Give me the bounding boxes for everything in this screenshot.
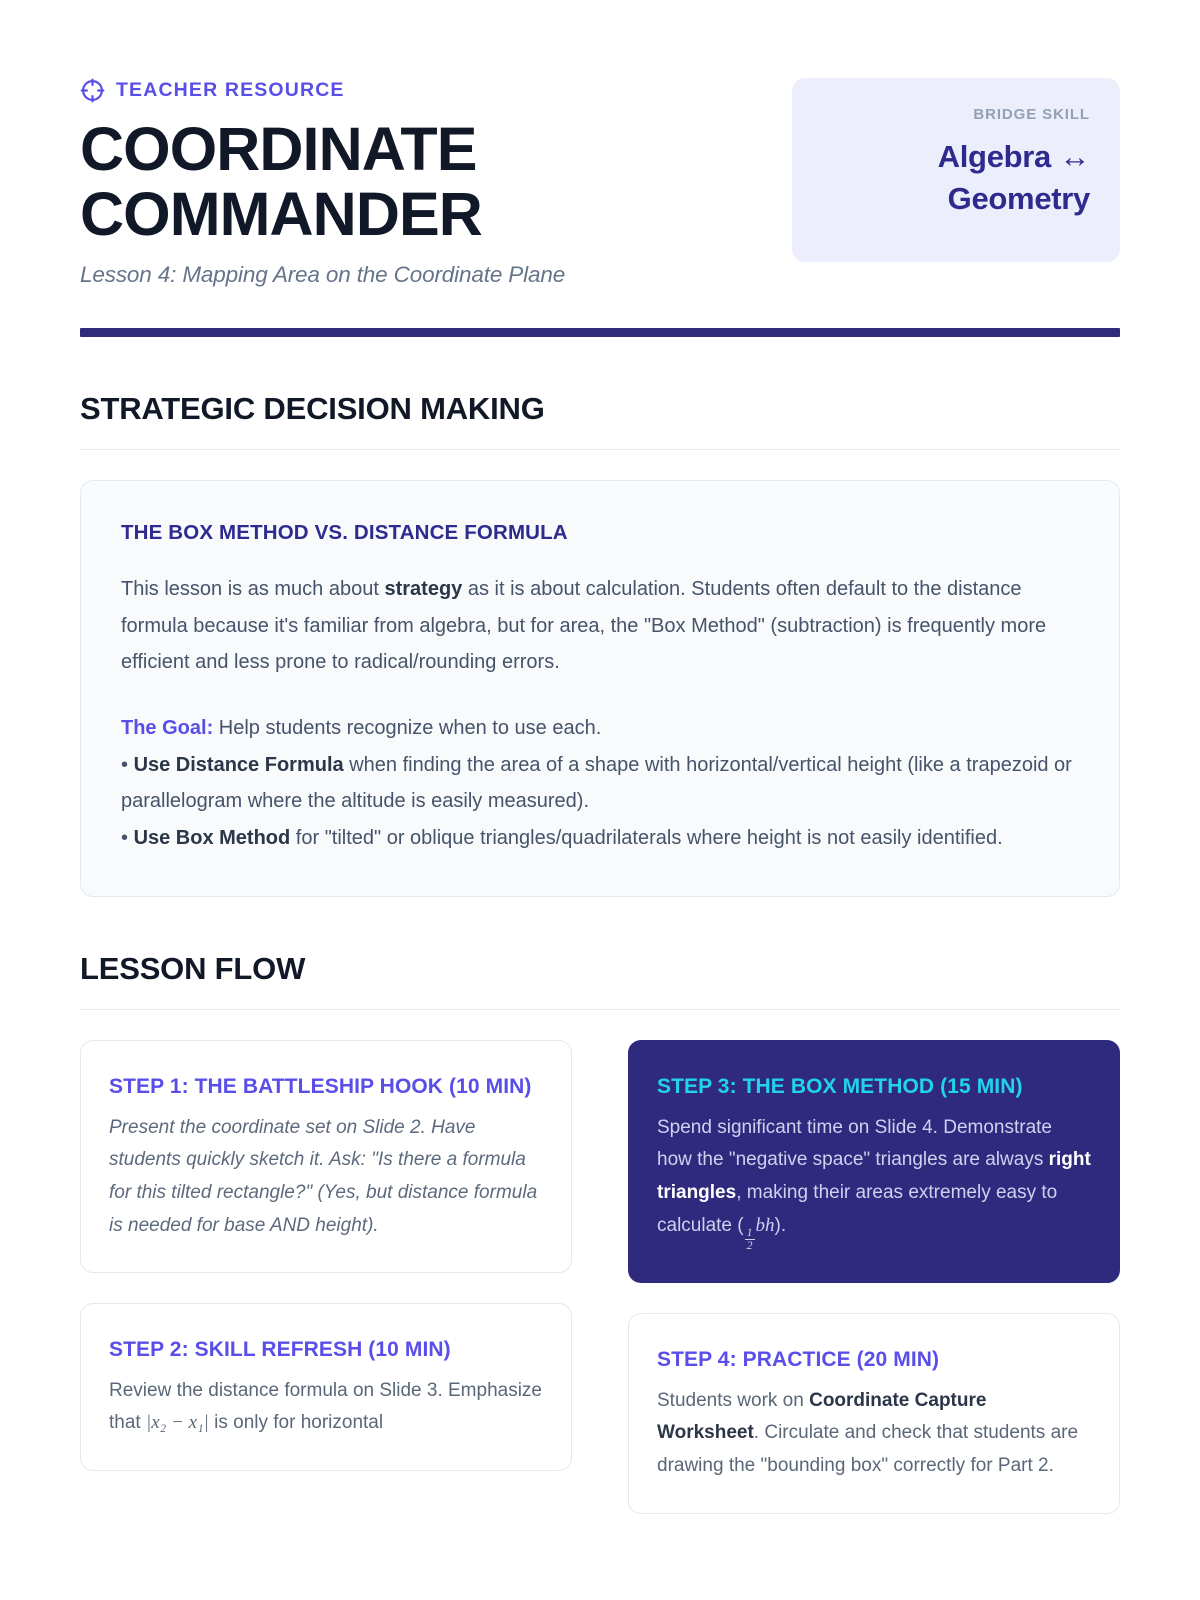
lesson-flow-grid: STEP 1: THE BATTLESHIP HOOK (10 MIN) Pre… <box>80 1040 1120 1514</box>
callout-body: This lesson is as much about strategy as… <box>121 571 1079 856</box>
step3-text-lead: Spend significant time on Slide 4. Demon… <box>657 1117 1052 1171</box>
page-subtitle: Lesson 4: Mapping Area on the Coordinate… <box>80 262 600 288</box>
bridge-skill-badge: BRIDGE SKILL Algebra ↔ Geometry <box>792 78 1120 262</box>
crosshair-target-icon <box>80 78 105 103</box>
step-card-title: STEP 4: PRACTICE (20 MIN) <box>657 1344 1091 1376</box>
lesson-flow-column-left: STEP 1: THE BATTLESHIP HOOK (10 MIN) Pre… <box>80 1040 572 1471</box>
strategy-callout-card: THE BOX METHOD VS. DISTANCE FORMULA This… <box>80 480 1120 897</box>
step-card-2[interactable]: STEP 2: SKILL REFRESH (10 MIN) Review th… <box>80 1303 572 1471</box>
half-bh-fraction: 12 <box>745 1227 755 1253</box>
step2-text-rest: is only for horizontal <box>209 1412 383 1433</box>
bh-term: bh <box>756 1215 775 1236</box>
step-card-text: Students work on Coordinate Capture Work… <box>657 1385 1091 1483</box>
badge-value: Algebra ↔ Geometry <box>820 136 1090 220</box>
step-card-1[interactable]: STEP 1: THE BATTLESHIP HOOK (10 MIN) Pre… <box>80 1040 572 1273</box>
section-strategic-decision-making: STRATEGIC DECISION MAKING THE BOX METHOD… <box>80 391 1120 897</box>
step-card-title: STEP 2: SKILL REFRESH (10 MIN) <box>109 1334 543 1366</box>
step-card-4[interactable]: STEP 4: PRACTICE (20 MIN) Students work … <box>628 1313 1120 1514</box>
eyebrow: TEACHER RESOURCE <box>80 78 600 103</box>
step-card-text: Review the distance formula on Slide 3. … <box>109 1375 543 1440</box>
bullet-marker: • <box>121 754 134 776</box>
page-header: TEACHER RESOURCE COORDINATE COMMANDER Le… <box>80 78 1120 288</box>
step-card-text: Spend significant time on Slide 4. Demon… <box>657 1112 1091 1253</box>
bullet-text: for "tilted" or oblique triangles/quadri… <box>290 827 1002 849</box>
callout-bullet-distance-formula: • Use Distance Formula when finding the … <box>121 747 1079 820</box>
lesson-flow-column-right: STEP 3: THE BOX METHOD (15 MIN) Spend si… <box>628 1040 1120 1514</box>
callout-para1-strong: strategy <box>384 578 462 600</box>
section-lesson-flow: LESSON FLOW STEP 1: THE BATTLESHIP HOOK … <box>80 951 1120 1514</box>
bullet-strong: Use Distance Formula <box>134 754 344 776</box>
step2-abs-expression: |x₂ − x₁| <box>146 1412 209 1433</box>
page-title: COORDINATE COMMANDER <box>80 117 600 246</box>
step4-text-lead: Students work on <box>657 1390 809 1411</box>
goal-label: The Goal: <box>121 717 213 739</box>
goal-line: The Goal: Help students recognize when t… <box>121 710 1079 746</box>
section-title: STRATEGIC DECISION MAKING <box>80 391 1120 427</box>
badge-kicker: BRIDGE SKILL <box>820 106 1090 123</box>
header-left: TEACHER RESOURCE COORDINATE COMMANDER Le… <box>80 78 600 288</box>
section-divider <box>80 449 1120 450</box>
bullet-marker: • <box>121 827 134 849</box>
bullet-strong: Use Box Method <box>134 827 291 849</box>
step3-text-tail: ). <box>775 1215 787 1236</box>
fraction-numerator: 1 <box>745 1227 755 1239</box>
goal-text: Help students recognize when to use each… <box>213 717 601 739</box>
step-card-title: STEP 3: THE BOX METHOD (15 MIN) <box>657 1071 1091 1103</box>
callout-title: THE BOX METHOD VS. DISTANCE FORMULA <box>121 521 1079 545</box>
callout-para1-lead: This lesson is as much about <box>121 578 384 600</box>
section-title: LESSON FLOW <box>80 951 1120 987</box>
eyebrow-label: TEACHER RESOURCE <box>116 81 345 101</box>
callout-bullet-box-method: • Use Box Method for "tilted" or oblique… <box>121 820 1079 856</box>
teacher-resource-page: TEACHER RESOURCE COORDINATE COMMANDER Le… <box>0 0 1200 1600</box>
step-card-3[interactable]: STEP 3: THE BOX METHOD (15 MIN) Spend si… <box>628 1040 1120 1283</box>
fraction-denominator: 2 <box>745 1239 755 1252</box>
header-rule-bar <box>80 328 1120 337</box>
section-divider <box>80 1009 1120 1010</box>
callout-goal-block: The Goal: Help students recognize when t… <box>121 710 1079 856</box>
step-card-text: Present the coordinate set on Slide 2. H… <box>109 1112 543 1243</box>
step-card-title: STEP 1: THE BATTLESHIP HOOK (10 MIN) <box>109 1071 543 1103</box>
